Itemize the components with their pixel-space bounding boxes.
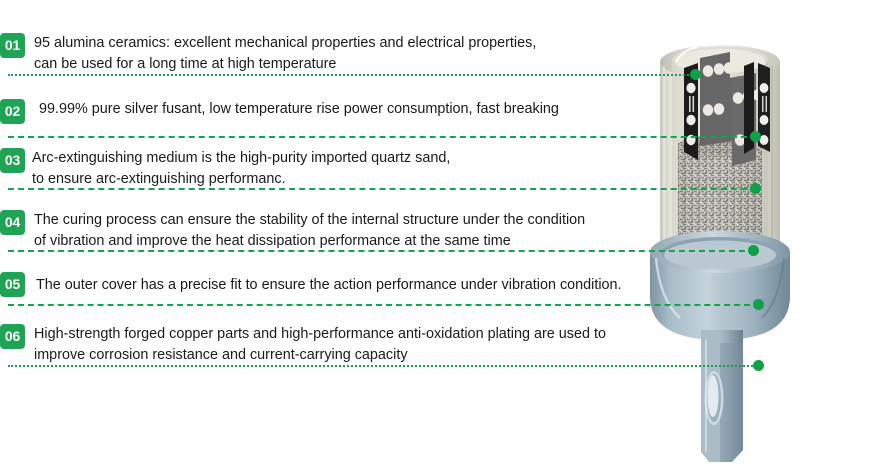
feature-badge-03: 03 (0, 148, 25, 173)
feature-badge-06: 06 (0, 324, 25, 349)
cutaway-fuse-illustration (620, 0, 890, 476)
metal-end-cap (650, 231, 790, 340)
node-dot-04 (748, 245, 759, 256)
leader-line-02 (8, 136, 757, 138)
feature-item-03[interactable]: 03 Arc-extinguishing medium is the high-… (0, 148, 450, 190)
feature-item-02[interactable]: 02 99.99% pure silver fusant, low temper… (0, 99, 559, 124)
feature-item-01[interactable]: 01 95 alumina ceramics: excellent mechan… (0, 33, 536, 75)
feature-item-05[interactable]: 05 The outer cover has a precise fit to … (0, 272, 622, 297)
feature-text-05: The outer cover has a precise fit to ens… (36, 275, 622, 296)
feature-badge-04: 04 (0, 210, 25, 235)
node-dot-02 (750, 131, 761, 142)
feature-item-04[interactable]: 04 The curing process can ensure the sta… (0, 210, 585, 252)
feature-item-06[interactable]: 06 High-strength forged copper parts and… (0, 324, 606, 366)
feature-text-02: 99.99% pure silver fusant, low temperatu… (39, 99, 559, 120)
node-dot-05 (753, 299, 764, 310)
node-dot-03 (750, 183, 761, 194)
feature-badge-05: 05 (0, 272, 25, 297)
node-dot-06 (753, 360, 764, 371)
copper-blade-terminal (701, 330, 743, 462)
feature-badge-01: 01 (0, 33, 25, 58)
feature-text-04: The curing process can ensure the stabil… (34, 210, 585, 252)
node-dot-01 (690, 69, 701, 80)
feature-callout-page: 01 95 alumina ceramics: excellent mechan… (0, 0, 890, 476)
feature-text-03: Arc-extinguishing medium is the high-pur… (32, 148, 450, 190)
feature-badge-02: 02 (0, 99, 25, 124)
feature-text-01: 95 alumina ceramics: excellent mechanica… (34, 33, 536, 75)
leader-line-05 (8, 304, 760, 306)
feature-text-06: High-strength forged copper parts and hi… (34, 324, 606, 366)
